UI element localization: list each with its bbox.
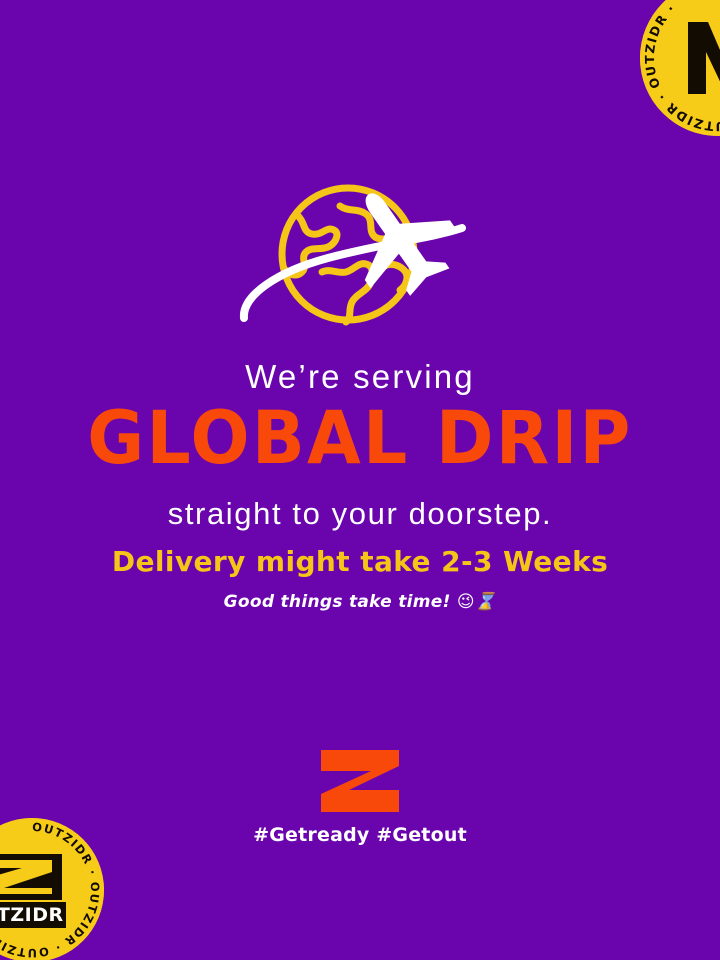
globe-with-airplane-icon bbox=[236, 176, 484, 348]
hashtags-text: #Getready #Getout bbox=[0, 812, 720, 846]
brand-badge-top-right: OUTZIDR · OUTZIDR · OUTZIDR · OUTZIDR · bbox=[640, 0, 720, 136]
promo-poster: OUTZIDR · OUTZIDR · OUTZIDR · OUTZIDR · … bbox=[0, 0, 720, 960]
delivery-notice-block: Delivery might take 2-3 Weeks Good thing… bbox=[0, 548, 720, 611]
footer-block: #Getready #Getout bbox=[0, 750, 720, 846]
z-glyph bbox=[321, 750, 399, 812]
badge-wordmark: OUTZIDR bbox=[0, 904, 64, 926]
delivery-reassurance-text: Good things take time! 😉⌛ bbox=[0, 576, 720, 611]
headline-text: GLOBAL DRIP bbox=[0, 388, 720, 484]
delivery-notice-text: Delivery might take 2-3 Weeks bbox=[0, 548, 720, 576]
headline-block: We’re serving GLOBAL DRIP straight to yo… bbox=[0, 360, 720, 529]
outzidr-z-logo bbox=[321, 750, 399, 812]
subline-text: straight to your doorstep. bbox=[0, 476, 720, 529]
